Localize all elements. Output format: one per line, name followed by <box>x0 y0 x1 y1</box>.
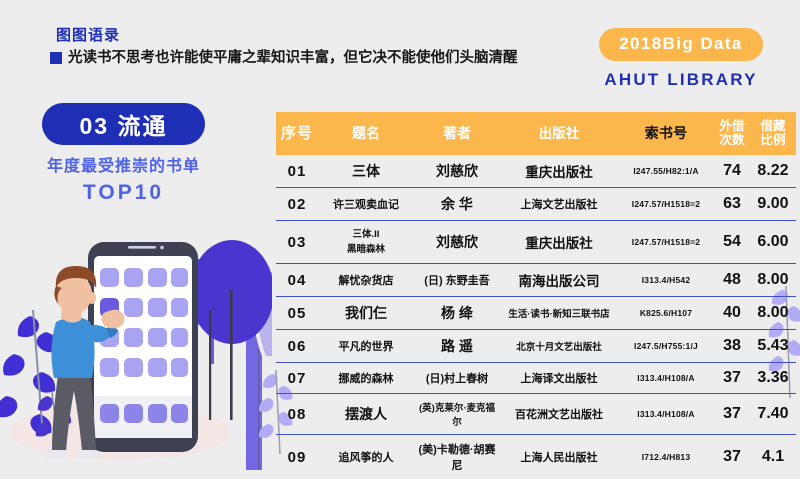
cell-ratio: 8.00 <box>750 264 796 297</box>
table-row: 01三体刘慈欣重庆出版社I247.55/H82:1/A748.22 <box>276 155 796 188</box>
cell-author: (日) 东野圭吾 <box>414 264 500 297</box>
cell-loans: 38 <box>714 330 750 363</box>
th-title: 题名 <box>318 112 414 155</box>
section-badge: 03 流通 <box>42 103 205 145</box>
table-row: 05我们仨杨 绛生活·读书·新知三联书店K825.6/H107408.00 <box>276 297 796 330</box>
cell-author: (英)克莱尔·麦克福尔 <box>414 394 500 435</box>
cell-ratio: 8.22 <box>750 155 796 188</box>
cell-title: 平凡的世界 <box>318 330 414 363</box>
cell-title: 三体.II黑暗森林 <box>318 221 414 264</box>
table-row: 06平凡的世界路 遥北京十月文艺出版社I247.5/H755:1/J385.43 <box>276 330 796 363</box>
cell-call-no: I247.5/H755:1/J <box>618 330 714 363</box>
th-loan-ratio: 借藏 比例 <box>750 112 796 155</box>
cell-title: 摆渡人 <box>318 394 414 435</box>
cell-title: 挪威的森林 <box>318 363 414 394</box>
cell-loans: 54 <box>714 221 750 264</box>
cell-ratio: 4.1 <box>750 435 796 479</box>
cell-ratio: 3.36 <box>750 363 796 394</box>
illustration-person-with-phone <box>0 214 272 479</box>
cell-publisher: 生活·读书·新知三联书店 <box>500 297 618 330</box>
cell-index: 06 <box>276 330 318 363</box>
table-row: 09追风筝的人(美)卡勒德·胡赛尼上海人民出版社I712.4/H813374.1 <box>276 435 796 479</box>
th-publisher: 出版社 <box>500 112 618 155</box>
cell-ratio: 6.00 <box>750 221 796 264</box>
table-head: 序号 题名 著者 出版社 索书号 外借 次数 借藏 比例 <box>276 112 796 155</box>
cell-ratio: 9.00 <box>750 188 796 221</box>
cell-loans: 63 <box>714 188 750 221</box>
cell-title: 三体 <box>318 155 414 188</box>
cell-author: 刘慈欣 <box>414 221 500 264</box>
cell-title: 许三观卖血记 <box>318 188 414 221</box>
th-index: 序号 <box>276 112 318 155</box>
th-loan-ratio-line1: 借藏 <box>750 119 796 133</box>
cell-publisher: 重庆出版社 <box>500 155 618 188</box>
table-row: 04解忧杂货店(日) 东野圭吾南海出版公司I313.4/H542488.00 <box>276 264 796 297</box>
section-top10-label: TOP10 <box>16 181 231 205</box>
table-header-row: 序号 题名 著者 出版社 索书号 外借 次数 借藏 比例 <box>276 112 796 155</box>
th-author: 著者 <box>414 112 500 155</box>
cell-call-no: I247.57/H1518=2 <box>618 188 714 221</box>
cell-ratio: 7.40 <box>750 394 796 435</box>
brand-block: 2018Big Data AHUT LIBRARY <box>586 28 776 90</box>
infographic-canvas: 图图语录 光读书不思考也许能使平庸之辈知识丰富，但它决不能使他们头脑清醒 201… <box>0 0 800 479</box>
cell-author: 路 遥 <box>414 330 500 363</box>
cell-call-no: I313.4/H108/A <box>618 394 714 435</box>
quote-text: 光读书不思考也许能使平庸之辈知识丰富，但它决不能使他们头脑清醒 <box>68 48 518 68</box>
cell-publisher: 上海文艺出版社 <box>500 188 618 221</box>
cell-call-no: I313.4/H108/A <box>618 363 714 394</box>
cell-publisher: 重庆出版社 <box>500 221 618 264</box>
book-ranking-table: 序号 题名 著者 出版社 索书号 外借 次数 借藏 比例 01三体刘慈欣重庆出版… <box>276 112 786 479</box>
quote-title: 图图语录 <box>56 26 590 46</box>
cell-index: 08 <box>276 394 318 435</box>
cell-publisher: 上海人民出版社 <box>500 435 618 479</box>
th-call-number: 索书号 <box>618 112 714 155</box>
section-subtitle-text: 年度最受推崇的书单 <box>47 158 200 175</box>
brand-subtitle: AHUT LIBRARY <box>586 70 776 90</box>
cell-author: 杨 绛 <box>414 297 500 330</box>
cell-loans: 37 <box>714 363 750 394</box>
cell-author: 余 华 <box>414 188 500 221</box>
cell-publisher: 南海出版公司 <box>500 264 618 297</box>
ranking-table: 序号 题名 著者 出版社 索书号 外借 次数 借藏 比例 01三体刘慈欣重庆出版… <box>276 112 796 479</box>
brand-pill-label: 2018Big Data <box>599 28 763 61</box>
cell-call-no: I247.55/H82:1/A <box>618 155 714 188</box>
table-row: 02许三观卖血记余 华上海文艺出版社I247.57/H1518=2639.00 <box>276 188 796 221</box>
cell-call-no: I247.57/H1518=2 <box>618 221 714 264</box>
cell-index: 09 <box>276 435 318 479</box>
table-row: 07挪威的森林(日)村上春树上海译文出版社I313.4/H108/A373.36 <box>276 363 796 394</box>
cell-index: 02 <box>276 188 318 221</box>
cell-loans: 37 <box>714 394 750 435</box>
th-loan-count: 外借 次数 <box>714 112 750 155</box>
smartphone-mockup <box>88 242 198 452</box>
cell-publisher: 北京十月文艺出版社 <box>500 330 618 363</box>
cell-index: 03 <box>276 221 318 264</box>
section-subtitle: 年度最受推崇的书单 TOP10 <box>16 155 231 205</box>
cell-index: 01 <box>276 155 318 188</box>
cell-title: 我们仨 <box>318 297 414 330</box>
cell-loans: 37 <box>714 435 750 479</box>
cell-loans: 40 <box>714 297 750 330</box>
cell-index: 07 <box>276 363 318 394</box>
th-loan-ratio-line2: 比例 <box>750 133 796 147</box>
square-bullet-icon <box>50 52 62 64</box>
cell-publisher: 上海译文出版社 <box>500 363 618 394</box>
th-loan-count-line1: 外借 <box>714 119 750 133</box>
cell-call-no: I313.4/H542 <box>618 264 714 297</box>
cell-loans: 48 <box>714 264 750 297</box>
cell-call-no: K825.6/H107 <box>618 297 714 330</box>
cell-index: 05 <box>276 297 318 330</box>
cell-index: 04 <box>276 264 318 297</box>
table-row: 03三体.II黑暗森林刘慈欣重庆出版社I247.57/H1518=2546.00 <box>276 221 796 264</box>
cell-loans: 74 <box>714 155 750 188</box>
quote-block: 图图语录 光读书不思考也许能使平庸之辈知识丰富，但它决不能使他们头脑清醒 <box>50 26 590 68</box>
cell-author: (日)村上春树 <box>414 363 500 394</box>
cell-author: 刘慈欣 <box>414 155 500 188</box>
cell-call-no: I712.4/H813 <box>618 435 714 479</box>
cell-ratio: 5.43 <box>750 330 796 363</box>
table-row: 08摆渡人(英)克莱尔·麦克福尔百花洲文艺出版社I313.4/H108/A377… <box>276 394 796 435</box>
table-body: 01三体刘慈欣重庆出版社I247.55/H82:1/A748.2202许三观卖血… <box>276 155 796 479</box>
cell-ratio: 8.00 <box>750 297 796 330</box>
quote-row: 光读书不思考也许能使平庸之辈知识丰富，但它决不能使他们头脑清醒 <box>50 48 590 68</box>
plant-left <box>0 310 60 436</box>
cell-title: 解忧杂货店 <box>318 264 414 297</box>
cell-author: (美)卡勒德·胡赛尼 <box>414 435 500 479</box>
cell-title: 追风筝的人 <box>318 435 414 479</box>
th-loan-count-line2: 次数 <box>714 133 750 147</box>
cell-publisher: 百花洲文艺出版社 <box>500 394 618 435</box>
